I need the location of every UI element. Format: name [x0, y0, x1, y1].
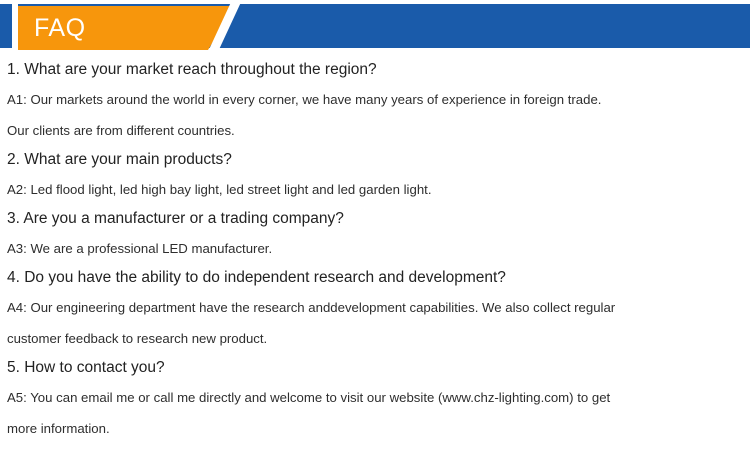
faq-question: 4. Do you have the ability to do indepen… — [7, 264, 744, 292]
faq-question: 2. What are your main products? — [7, 146, 744, 174]
faq-answer-line: A3: We are a professional LED manufactur… — [7, 233, 744, 264]
faq-answer-line: customer feedback to research new produc… — [7, 323, 744, 354]
faq-item: 2. What are your main products? A2: Led … — [7, 146, 744, 205]
faq-item: 5. How to contact you? A5: You can email… — [7, 354, 744, 444]
faq-answer-line: A4: Our engineering department have the … — [7, 292, 744, 323]
faq-header-banner: FAQ — [0, 0, 750, 56]
faq-item: 3. Are you a manufacturer or a trading c… — [7, 205, 744, 264]
faq-list: 1. What are your market reach throughout… — [0, 56, 750, 444]
faq-answer-line: A2: Led flood light, led high bay light,… — [7, 174, 744, 205]
faq-question: 1. What are your market reach throughout… — [7, 56, 744, 84]
faq-answer-line: more information. — [7, 413, 744, 444]
faq-item: 4. Do you have the ability to do indepen… — [7, 264, 744, 354]
faq-answer-line: Our clients are from different countries… — [7, 115, 744, 146]
faq-page: FAQ 1. What are your market reach throug… — [0, 0, 750, 469]
faq-item: 1. What are your market reach throughout… — [7, 56, 744, 146]
page-title: FAQ — [34, 9, 86, 47]
faq-answer-line: A5: You can email me or call me directly… — [7, 382, 744, 413]
faq-question: 3. Are you a manufacturer or a trading c… — [7, 205, 744, 233]
faq-answer-line: A1: Our markets around the world in ever… — [7, 84, 744, 115]
faq-question: 5. How to contact you? — [7, 354, 744, 382]
header-left-notch — [12, 0, 18, 56]
